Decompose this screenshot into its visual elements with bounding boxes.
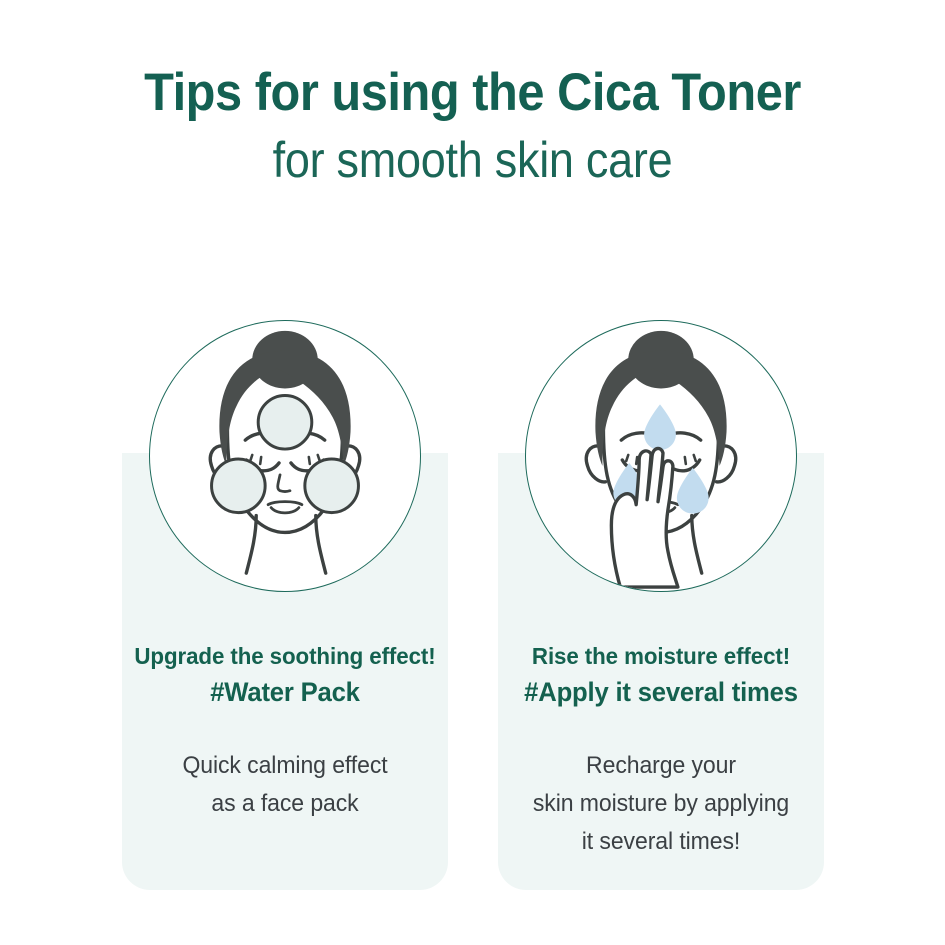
tip-body-water-pack: Quick calming effect as a face pack bbox=[122, 747, 448, 823]
tip-hashtag: #Water Pack bbox=[130, 674, 440, 710]
tip-body-line: skin moisture by applying bbox=[505, 785, 818, 823]
woman-face-with-cotton-pads-icon bbox=[149, 320, 421, 592]
tip-body-line: it several times! bbox=[505, 823, 818, 861]
page-title-line2: for smooth skin care bbox=[47, 130, 898, 190]
tip-body-line: as a face pack bbox=[129, 785, 442, 823]
page-title: Tips for using the Cica Toner for smooth… bbox=[0, 62, 945, 190]
tip-heading-line1: Upgrade the soothing effect! bbox=[130, 640, 440, 672]
tip-heading-water-pack: Upgrade the soothing effect! #Water Pack bbox=[122, 640, 448, 710]
tip-body-line: Quick calming effect bbox=[129, 747, 442, 785]
tip-heading-line1: Rise the moisture effect! bbox=[506, 640, 816, 672]
tip-hashtag: #Apply it several times bbox=[506, 674, 816, 710]
tip-body-line: Recharge your bbox=[505, 747, 818, 785]
tip-heading-apply-several-times: Rise the moisture effect! #Apply it seve… bbox=[498, 640, 824, 710]
page-title-line1: Tips for using the Cica Toner bbox=[38, 62, 907, 124]
tip-body-apply-several-times: Recharge your skin moisture by applying … bbox=[498, 747, 824, 861]
woman-face-applying-toner-icon bbox=[525, 320, 797, 592]
